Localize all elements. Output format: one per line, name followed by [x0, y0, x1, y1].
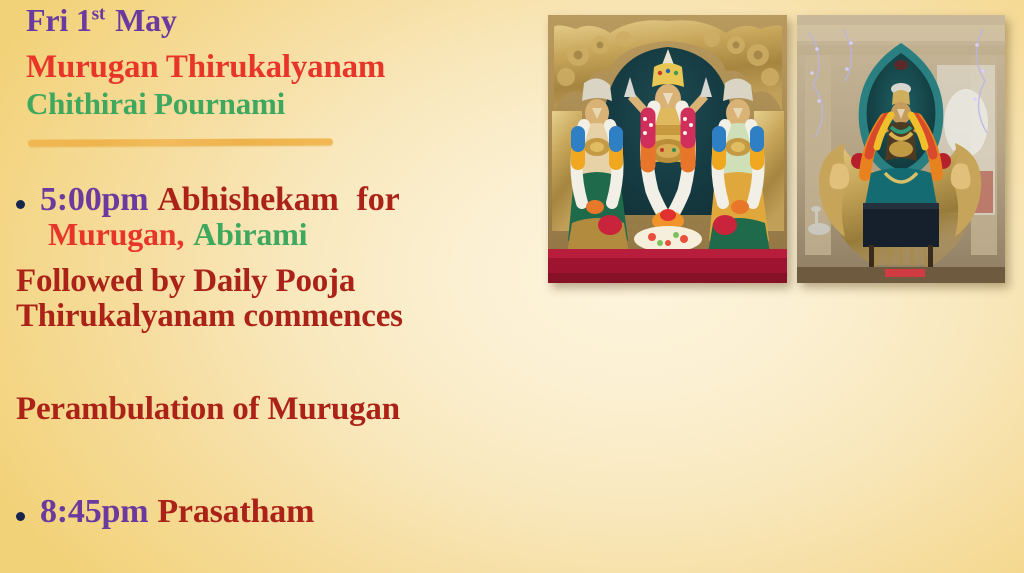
event-date-month: May: [115, 2, 177, 38]
schedule-item-1-deity-secondary: Abirami: [193, 216, 307, 252]
header-divider: [28, 138, 333, 146]
schedule-item-1-event: Abhishekam: [157, 181, 338, 218]
schedule-item-2-line-1: 8:45pmPrasatham: [40, 494, 314, 529]
schedule-note-3: Perambulation of Murugan: [16, 392, 400, 426]
murugan-on-peacock-vahana-photo: [797, 15, 1005, 283]
murugan-with-consorts-deity-photo: [548, 15, 787, 283]
schedule-item-1-line-1: 5:00pmAbhishekamfor: [40, 182, 399, 217]
bullet-marker-1: [16, 200, 25, 209]
event-date-prefix: Fri 1: [26, 2, 92, 38]
text-column: Fri 1stMay Murugan Thirukalyanam Chithir…: [0, 0, 560, 573]
event-subtitle: Chithirai Pournami: [26, 88, 285, 121]
event-announcement-slide: Fri 1stMay Murugan Thirukalyanam Chithir…: [0, 0, 1024, 573]
event-date: Fri 1stMay: [26, 4, 177, 38]
event-title: Murugan Thirukalyanam: [26, 50, 385, 85]
schedule-item-1-time: 5:00pm: [40, 181, 148, 218]
schedule-item-1-deity-primary: Murugan,: [48, 216, 184, 252]
schedule-item-2-time: 8:45pm: [40, 493, 148, 530]
deity-photo-2-artwork: [797, 15, 1005, 283]
bullet-marker-2: [16, 512, 25, 521]
schedule-item-1-line-2: Murugan,Abirami: [48, 218, 307, 251]
event-date-ordinal: st: [92, 3, 105, 24]
schedule-note-1: Followed by Daily Pooja: [16, 264, 355, 298]
schedule-item-1-connector: for: [357, 181, 400, 218]
schedule-note-2: Thirukalyanam commences: [16, 299, 403, 333]
schedule-item-2-event: Prasatham: [157, 493, 314, 530]
deity-photo-1-artwork: [548, 15, 787, 283]
